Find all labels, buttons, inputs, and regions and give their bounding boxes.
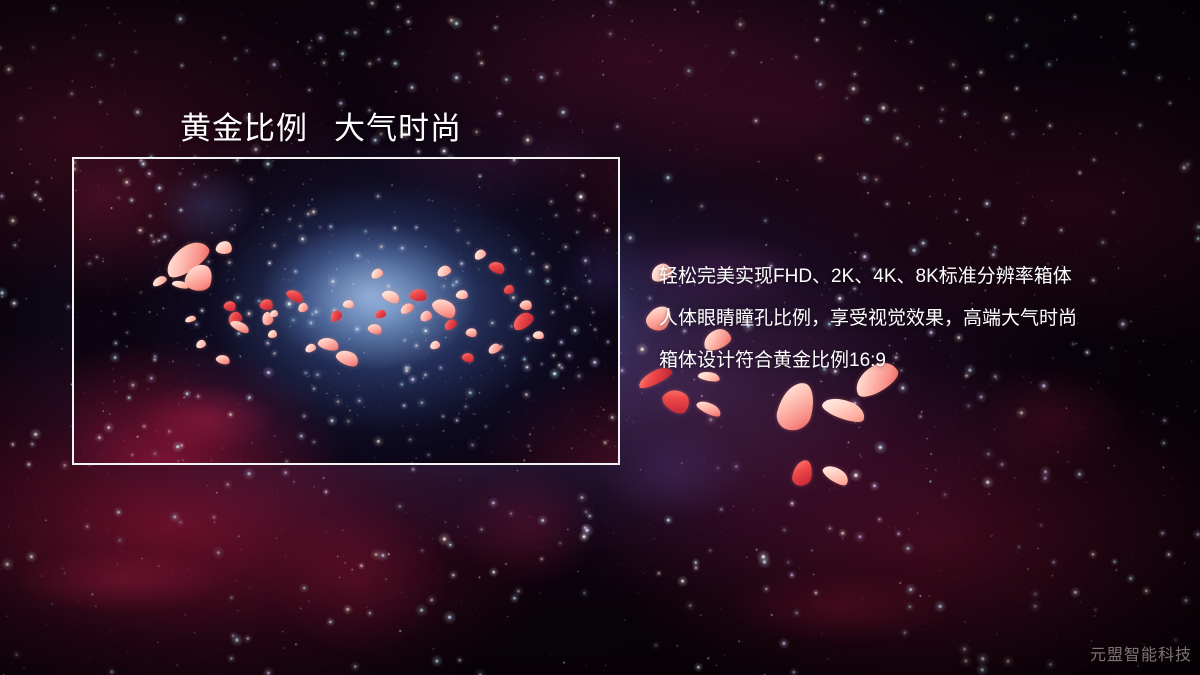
framed-image-content <box>74 159 618 463</box>
body-line-1: 轻松完美实现FHD、2K、4K、8K标准分辨率箱体 <box>659 256 1179 298</box>
body-line-3: 箱体设计符合黄金比例16:9 <box>659 340 1179 382</box>
presentation-slide: 黄金比例大气时尚 轻松完美实现FHD、2K、4K、8K标准分辨率箱体 人体眼睛瞳… <box>0 0 1200 675</box>
title-part-one: 黄金比例 <box>180 111 308 146</box>
framed-starfield <box>74 159 618 463</box>
watermark: 元盟智能科技 <box>1090 641 1192 665</box>
body-line-2: 人体眼睛瞳孔比例，享受视觉效果，高端大气时尚 <box>659 298 1179 340</box>
framed-image <box>72 157 620 465</box>
title-part-two: 大气时尚 <box>334 111 462 146</box>
slide-body-text: 轻松完美实现FHD、2K、4K、8K标准分辨率箱体 人体眼睛瞳孔比例，享受视觉效… <box>659 256 1179 382</box>
slide-title: 黄金比例大气时尚 <box>180 103 462 148</box>
